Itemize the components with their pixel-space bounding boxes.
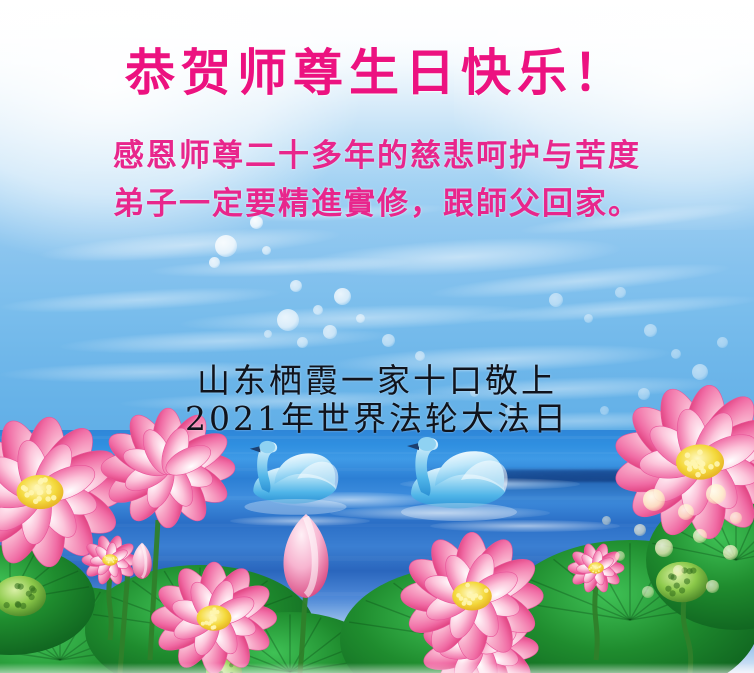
bokeh-dot — [584, 314, 593, 323]
card-signature-line-2: 2021年世界法轮大法日 — [0, 392, 754, 440]
warm-bokeh-dot — [643, 489, 665, 511]
water-ripple — [230, 516, 370, 526]
water-band — [0, 592, 754, 596]
card-subtitle-line-1: 感恩师尊二十多年的慈悲呵护与苦度 — [0, 130, 754, 175]
bokeh-dot — [313, 305, 323, 315]
water-band — [0, 452, 754, 454]
warm-bokeh-dot — [673, 565, 684, 576]
card-subtitle-line-2: 弟子一定要精進實修，跟師父回家。 — [0, 178, 754, 223]
warm-bokeh-dot — [706, 484, 726, 504]
warm-bokeh-dot — [642, 586, 654, 598]
warm-bokeh-dot — [634, 524, 646, 536]
bokeh-dot — [615, 287, 626, 298]
water-ripple — [430, 520, 620, 532]
bokeh-dot — [262, 246, 271, 255]
bokeh-dot — [209, 257, 220, 268]
bokeh-dot — [644, 324, 657, 337]
water-ripple — [400, 478, 580, 490]
bokeh-dot — [277, 309, 299, 331]
bokeh-dot — [549, 293, 563, 307]
bokeh-dot — [290, 280, 302, 292]
bokeh-dot — [717, 337, 728, 348]
bokeh-dot — [264, 330, 272, 338]
bokeh-dot — [334, 288, 351, 305]
greeting-card: 恭贺师尊生日快乐！ 感恩师尊二十多年的慈悲呵护与苦度 弟子一定要精進實修，跟師父… — [0, 0, 754, 673]
warm-bokeh-dot — [723, 545, 738, 560]
bokeh-dot — [323, 325, 337, 339]
bokeh-dot — [382, 334, 395, 347]
bokeh-dot — [356, 314, 365, 323]
warm-bokeh-dot — [615, 551, 625, 561]
warm-bokeh-dot — [678, 504, 694, 520]
water-band — [0, 556, 754, 561]
bokeh-dot — [297, 337, 308, 348]
card-title: 恭贺师尊生日快乐！ — [0, 33, 754, 105]
warm-bokeh-dot — [693, 529, 707, 543]
bokeh-dot — [215, 235, 237, 257]
warm-bokeh-dot — [602, 516, 611, 525]
warm-bokeh-dot — [706, 580, 719, 593]
bottom-fade — [0, 663, 754, 673]
warm-bokeh-dot — [655, 539, 673, 557]
warm-bokeh-dot — [730, 512, 742, 524]
